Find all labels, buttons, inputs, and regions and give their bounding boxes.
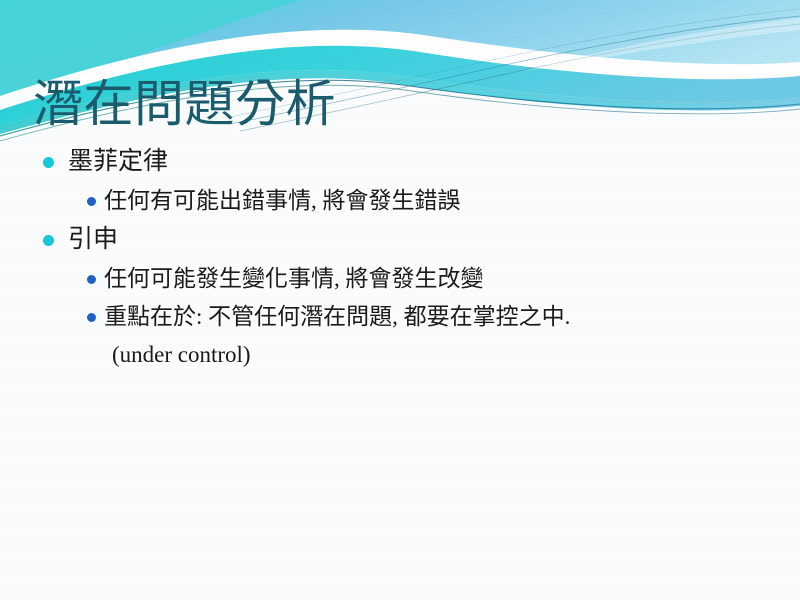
- slide-title: 潛在問題分析: [33, 77, 336, 131]
- list-item: 重點在於: 不管任何潛在問題, 都要在掌控之中. (under control): [0, 298, 800, 374]
- level2-bullet-dot: [87, 313, 96, 322]
- list-item-text: 引申: [68, 226, 118, 253]
- list-item: 引申: [0, 220, 800, 260]
- presentation-slide: 潛在問題分析 墨菲定律 任何有可能出錯事情, 將會發生錯誤 引申 任何可能發生變…: [0, 0, 800, 600]
- bullet-list: 墨菲定律 任何有可能出錯事情, 將會發生錯誤 引申 任何可能發生變化事情, 將會…: [0, 142, 800, 374]
- list-item: 墨菲定律: [0, 142, 800, 182]
- level1-bullet-dot: [43, 157, 54, 168]
- list-item-continuation-text: (under control): [104, 336, 800, 374]
- level1-bullet-dot: [43, 235, 54, 246]
- list-item-text: 重點在於: 不管任何潛在問題, 都要在掌控之中.: [104, 304, 570, 329]
- slide-body: 墨菲定律 任何有可能出錯事情, 將會發生錯誤 引申 任何可能發生變化事情, 將會…: [0, 142, 800, 374]
- level2-bullet-dot: [87, 197, 96, 206]
- list-item-text: 任何可能發生變化事情, 將會發生改變: [104, 266, 484, 291]
- list-item: 任何有可能出錯事情, 將會發生錯誤: [0, 182, 800, 220]
- list-item-text: 墨菲定律: [68, 148, 168, 175]
- level2-bullet-dot: [87, 275, 96, 284]
- list-item-text: 任何有可能出錯事情, 將會發生錯誤: [104, 188, 461, 213]
- list-item: 任何可能發生變化事情, 將會發生改變: [0, 260, 800, 298]
